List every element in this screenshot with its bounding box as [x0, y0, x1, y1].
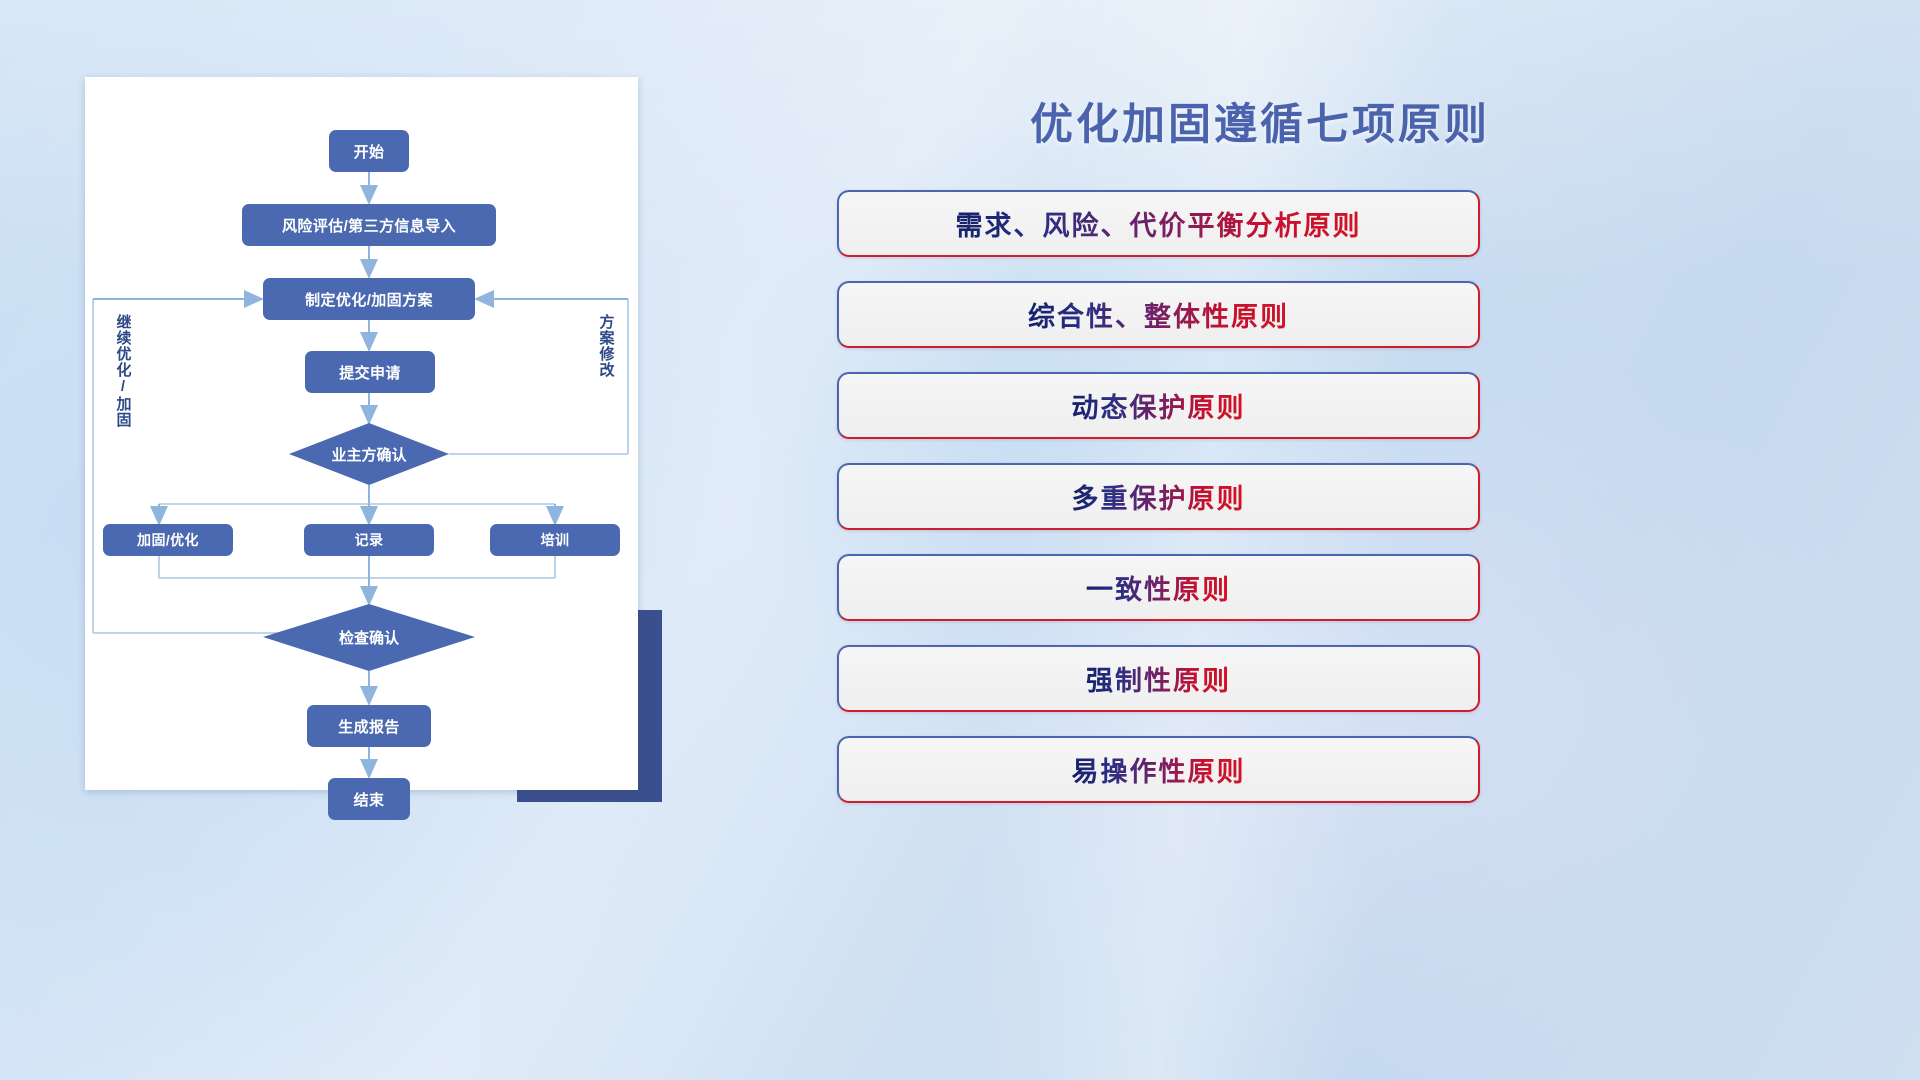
principle-label: 易操作性原则: [1072, 750, 1246, 789]
principles-list: 需求、风险、代价平衡分析原则 综合性、整体性原则 动态保护原则 多重保护原则 一…: [837, 190, 1487, 827]
flow-node-reinforce[interactable]: 加固/优化: [103, 524, 233, 556]
flow-node-submit[interactable]: 提交申请: [305, 351, 435, 393]
flow-edge-label-left: 继续优化/加固: [115, 314, 130, 428]
flow-node-record-label: 记录: [355, 530, 384, 550]
flow-node-risk[interactable]: 风险评估/第三方信息导入: [242, 204, 496, 246]
flow-node-training[interactable]: 培训: [490, 524, 620, 556]
panel-title: 优化加固遵循七项原则: [940, 90, 1580, 152]
flowchart-connectors: [85, 77, 638, 790]
principle-label: 综合性、整体性原则: [1028, 295, 1289, 334]
principles-panel: 优化加固遵循七项原则 需求、风险、代价平衡分析原则 综合性、整体性原则 动态保护…: [830, 0, 1920, 1080]
flow-node-check-label: 检查确认: [289, 622, 449, 652]
principle-card-1[interactable]: 需求、风险、代价平衡分析原则: [837, 190, 1480, 257]
principle-label: 一致性原则: [1086, 568, 1231, 607]
flow-node-risk-label: 风险评估/第三方信息导入: [282, 215, 456, 236]
flow-node-owner-label: 业主方确认: [289, 439, 449, 469]
flow-node-plan[interactable]: 制定优化/加固方案: [263, 278, 475, 320]
principle-card-6[interactable]: 强制性原则: [837, 645, 1480, 712]
flow-node-plan-label: 制定优化/加固方案: [305, 289, 433, 310]
flow-edge-label-right: 方案修改: [598, 314, 613, 378]
flowchart-card: 开始 风险评估/第三方信息导入 制定优化/加固方案 提交申请 业主方确认 加固/…: [85, 77, 638, 790]
principle-card-3[interactable]: 动态保护原则: [837, 372, 1480, 439]
principle-card-7[interactable]: 易操作性原则: [837, 736, 1480, 803]
flow-node-report[interactable]: 生成报告: [307, 705, 431, 747]
principle-card-5[interactable]: 一致性原则: [837, 554, 1480, 621]
flow-node-end-label: 结束: [354, 789, 385, 810]
flow-node-training-label: 培训: [541, 530, 570, 550]
flow-node-report-label: 生成报告: [338, 716, 400, 737]
principle-label: 多重保护原则: [1072, 477, 1246, 516]
flow-node-start-label: 开始: [354, 141, 385, 162]
flow-node-end[interactable]: 结束: [328, 778, 410, 820]
principle-card-4[interactable]: 多重保护原则: [837, 463, 1480, 530]
principle-label: 强制性原则: [1086, 659, 1231, 698]
principle-label: 需求、风险、代价平衡分析原则: [956, 204, 1362, 243]
flow-node-start[interactable]: 开始: [329, 130, 409, 172]
principle-card-2[interactable]: 综合性、整体性原则: [837, 281, 1480, 348]
flow-node-submit-label: 提交申请: [339, 362, 401, 383]
principle-label: 动态保护原则: [1072, 386, 1246, 425]
flow-node-reinforce-label: 加固/优化: [137, 530, 199, 550]
flow-node-record[interactable]: 记录: [304, 524, 434, 556]
